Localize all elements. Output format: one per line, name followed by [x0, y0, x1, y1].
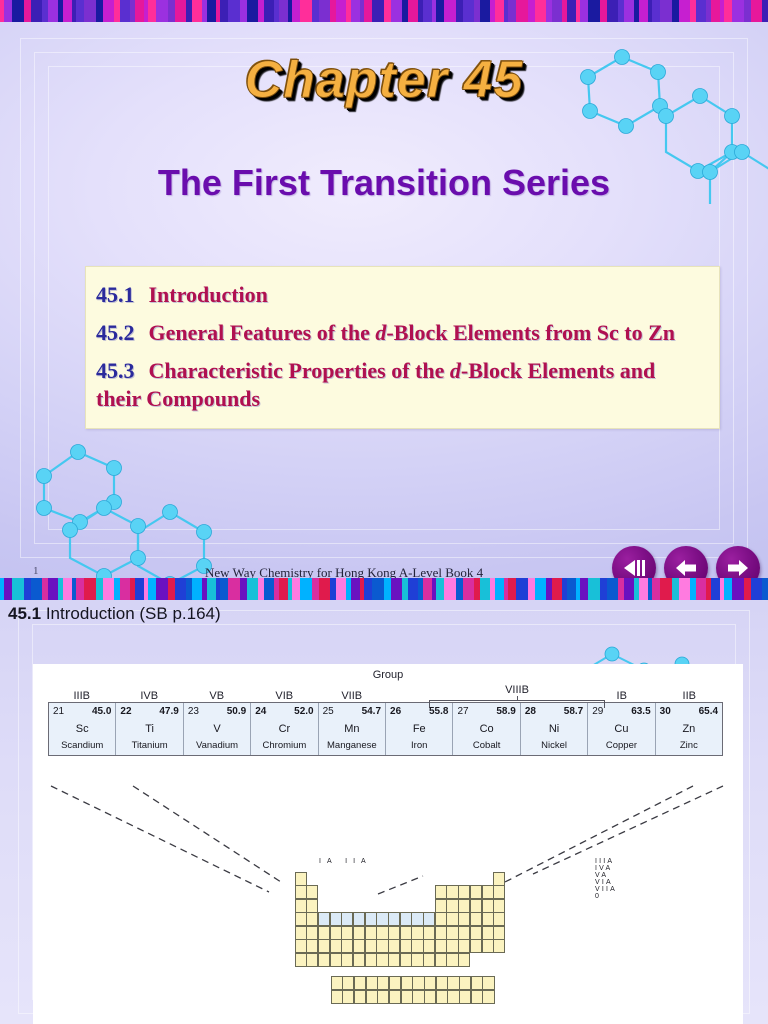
mini-cell[interactable] [353, 953, 365, 967]
mini-cell-empty [330, 899, 342, 913]
mini-cell[interactable] [306, 912, 318, 926]
page-title: Chapter 45 [0, 50, 768, 110]
mini-cell[interactable] [318, 939, 330, 953]
toc-item[interactable]: 45.2General Features of the d-Block Elem… [96, 319, 705, 347]
toc-item[interactable]: 45.1Introduction [96, 281, 705, 309]
mini-cell[interactable] [493, 912, 505, 926]
mini-cell-empty [411, 899, 423, 913]
mini-cell[interactable] [331, 990, 343, 1004]
mini-cell[interactable] [388, 953, 400, 967]
next-slide-button[interactable] [716, 546, 760, 578]
section-heading-text: Introduction (SB p.164) [46, 604, 221, 623]
toc-item-text: -Block Elements from Sc to Zn [386, 320, 675, 345]
toc-item-text: d [450, 358, 461, 383]
mini-cell-transition-series[interactable] [411, 912, 423, 926]
mini-cell[interactable] [493, 885, 505, 899]
mini-cell[interactable] [435, 899, 447, 913]
mini-cell[interactable] [470, 912, 482, 926]
mini-cell[interactable] [482, 939, 494, 953]
mini-left-group-labels: IA IIA [319, 858, 372, 865]
first-slide-button[interactable] [612, 546, 656, 578]
mini-cell-empty [482, 953, 494, 967]
mini-cell[interactable] [365, 953, 377, 967]
mini-cell-transition-series[interactable] [400, 912, 412, 926]
mini-cell-empty [330, 885, 342, 899]
mini-cell[interactable] [388, 939, 400, 953]
mini-cell-empty [365, 899, 377, 913]
mini-cell-transition-series[interactable] [388, 912, 400, 926]
mini-cell[interactable] [376, 939, 388, 953]
mini-cell[interactable] [493, 939, 505, 953]
mini-cell[interactable] [306, 885, 318, 899]
molecule-decoration-bottom-left [18, 440, 233, 578]
mini-table-row [295, 886, 505, 900]
mini-cell[interactable] [482, 912, 494, 926]
mini-cell[interactable] [388, 926, 400, 940]
mini-cell-empty [341, 872, 353, 886]
table-of-contents-box: 45.1Introduction45.2General Features of … [85, 266, 720, 429]
mini-cell[interactable] [470, 926, 482, 940]
mini-cell[interactable] [341, 926, 353, 940]
mini-cell-empty [318, 885, 330, 899]
mini-cell-empty [458, 872, 470, 886]
mini-cell-empty [423, 899, 435, 913]
mini-cell[interactable] [458, 885, 470, 899]
mini-cell-transition-series[interactable] [330, 912, 342, 926]
page-subtitle: The First Transition Series [0, 162, 768, 204]
mini-cell[interactable] [330, 926, 342, 940]
mini-cell[interactable] [306, 899, 318, 913]
mini-cell[interactable] [401, 976, 413, 990]
mini-cell[interactable] [342, 976, 354, 990]
mini-cell-empty [411, 885, 423, 899]
mini-table-fblock-row [331, 990, 505, 1004]
mini-table-row [295, 899, 505, 913]
mini-cell[interactable] [412, 990, 424, 1004]
mini-cell-empty [365, 885, 377, 899]
mini-cell[interactable] [306, 926, 318, 940]
mini-cell[interactable] [482, 976, 494, 990]
mini-table-fblock-row [331, 977, 505, 991]
mini-cell[interactable] [435, 926, 447, 940]
mini-cell[interactable] [365, 926, 377, 940]
mini-cell[interactable] [493, 926, 505, 940]
mini-cell-empty [411, 872, 423, 886]
mini-cell-empty [388, 872, 400, 886]
mini-cell-empty [376, 885, 388, 899]
mini-cell[interactable] [482, 899, 494, 913]
section-heading: 45.1 Introduction (SB p.164) [8, 604, 221, 624]
mini-cell[interactable] [400, 939, 412, 953]
toc-item-text: General Features of the [149, 320, 376, 345]
mini-cell-empty [435, 872, 447, 886]
mini-cell[interactable] [366, 976, 378, 990]
decorative-mosaic-border-middle [0, 578, 768, 600]
mini-cell-empty [400, 899, 412, 913]
mini-cell[interactable] [482, 926, 494, 940]
mini-cell[interactable] [365, 939, 377, 953]
mini-cell[interactable] [447, 990, 459, 1004]
mini-cell-empty [423, 872, 435, 886]
mini-cell-empty [353, 899, 365, 913]
mini-cell[interactable] [446, 939, 458, 953]
mini-cell[interactable] [424, 976, 436, 990]
periodic-table-figure-panel: Group VIIIB IIIBIVBVBVIBVIIBIBIIB 2145.0… [33, 664, 743, 1024]
mini-cell-empty [341, 899, 353, 913]
mini-cell[interactable] [435, 939, 447, 953]
mini-cell[interactable] [353, 939, 365, 953]
toc-item-number: 45.1 [96, 282, 135, 307]
mini-cell-empty [376, 872, 388, 886]
mini-cell[interactable] [471, 990, 483, 1004]
mini-cell-transition-series[interactable] [423, 912, 435, 926]
mini-cell[interactable] [458, 953, 470, 967]
mini-cell[interactable] [389, 976, 401, 990]
mini-cell-empty [365, 872, 377, 886]
mini-cell-empty [388, 885, 400, 899]
mini-cell[interactable] [458, 912, 470, 926]
decorative-mosaic-border-top [0, 0, 768, 22]
mini-cell[interactable] [341, 939, 353, 953]
mini-cell[interactable] [400, 953, 412, 967]
mini-cell[interactable] [295, 899, 307, 913]
previous-slide-button[interactable] [664, 546, 708, 578]
mini-cell[interactable] [447, 976, 459, 990]
mini-cell-empty [423, 885, 435, 899]
mini-cell[interactable] [354, 990, 366, 1004]
mini-cell[interactable] [436, 976, 448, 990]
mini-cell[interactable] [470, 899, 482, 913]
mini-cell[interactable] [295, 872, 307, 886]
toc-item-number: 45.3 [96, 358, 135, 383]
mini-cell[interactable] [366, 990, 378, 1004]
mini-cell[interactable] [435, 912, 447, 926]
mini-cell-empty [470, 953, 482, 967]
mini-cell[interactable] [493, 899, 505, 913]
mini-cell[interactable] [377, 990, 389, 1004]
mini-cell-empty [376, 899, 388, 913]
mini-cell[interactable] [295, 926, 307, 940]
mini-cell[interactable] [330, 939, 342, 953]
mini-cell[interactable] [306, 939, 318, 953]
mini-cell[interactable] [330, 953, 342, 967]
mini-cell[interactable] [446, 885, 458, 899]
arrow-left-icon [673, 558, 699, 578]
mini-cell[interactable] [424, 990, 436, 1004]
mini-table-row [295, 913, 505, 927]
mini-cell-empty [400, 885, 412, 899]
slide-deck-page: Chapter 45 The First Transition Series 4… [0, 0, 768, 1024]
mini-cell[interactable] [436, 990, 448, 1004]
mini-cell[interactable] [353, 926, 365, 940]
mini-cell[interactable] [446, 912, 458, 926]
mini-cell-empty [493, 953, 505, 967]
mini-cell-empty [446, 872, 458, 886]
mini-cell[interactable] [295, 885, 307, 899]
mini-table-row [295, 940, 505, 954]
toc-item-text: d [375, 320, 386, 345]
mini-right-group-labels: IIIA IVA VA VIA VIIA 0 [595, 858, 617, 900]
slide-page-number: 1 [33, 565, 39, 577]
mini-cell[interactable] [412, 976, 424, 990]
beginning-icon [621, 558, 647, 578]
mini-cell[interactable] [411, 939, 423, 953]
mini-cell-empty [318, 872, 330, 886]
mini-cell[interactable] [482, 990, 494, 1004]
mini-cell[interactable] [341, 953, 353, 967]
mini-cell[interactable] [471, 976, 483, 990]
mini-cell-empty [341, 885, 353, 899]
mini-cell[interactable] [295, 912, 307, 926]
mini-table-row [295, 872, 505, 886]
mini-cell-empty [388, 899, 400, 913]
mini-cell[interactable] [376, 953, 388, 967]
mini-cell[interactable] [423, 939, 435, 953]
mini-cell[interactable] [411, 953, 423, 967]
mini-cell[interactable] [306, 953, 318, 967]
mini-cell-empty [318, 899, 330, 913]
mini-cell-transition-series[interactable] [376, 912, 388, 926]
mini-cell-empty [306, 872, 318, 886]
mini-cell-empty [330, 872, 342, 886]
mini-cell[interactable] [342, 990, 354, 1004]
mini-table-row [295, 953, 505, 967]
mini-cell[interactable] [482, 885, 494, 899]
mini-cell-empty [400, 872, 412, 886]
toc-item-text: Characteristic Properties of the [149, 358, 450, 383]
mini-cell-transition-series[interactable] [318, 912, 330, 926]
toc-item[interactable]: 45.3Characteristic Properties of the d-B… [96, 357, 705, 413]
mini-cell-empty [353, 885, 365, 899]
mini-cell[interactable] [459, 990, 471, 1004]
mini-cell[interactable] [493, 872, 505, 886]
toc-item-text: Introduction [149, 282, 268, 307]
mini-cell[interactable] [459, 976, 471, 990]
mini-cell[interactable] [435, 953, 447, 967]
mini-cell[interactable] [458, 926, 470, 940]
mini-cell[interactable] [458, 899, 470, 913]
mini-cell[interactable] [411, 926, 423, 940]
mini-cell[interactable] [295, 953, 307, 967]
toc-item-number: 45.2 [96, 320, 135, 345]
mini-cell[interactable] [331, 976, 343, 990]
slide-content-slide: 45.1 Introduction (SB p.164) Group [0, 600, 768, 1024]
mini-cell[interactable] [435, 885, 447, 899]
mini-cell[interactable] [377, 976, 389, 990]
mini-cell[interactable] [376, 926, 388, 940]
slide-title-slide: Chapter 45 The First Transition Series 4… [0, 22, 768, 578]
mini-cell[interactable] [446, 926, 458, 940]
mini-cell-transition-series[interactable] [353, 912, 365, 926]
mini-cell[interactable] [389, 990, 401, 1004]
mini-cell[interactable] [423, 926, 435, 940]
mini-table-row [295, 926, 505, 940]
mini-cell-transition-series[interactable] [365, 912, 377, 926]
mini-cell[interactable] [446, 953, 458, 967]
slide-navigation-bar[interactable] [612, 546, 760, 578]
mini-cell[interactable] [458, 939, 470, 953]
mini-cell[interactable] [295, 939, 307, 953]
mini-cell[interactable] [354, 976, 366, 990]
section-heading-number: 45.1 [8, 604, 41, 623]
mini-cell[interactable] [401, 990, 413, 1004]
mini-cell[interactable] [318, 926, 330, 940]
mini-cell[interactable] [423, 953, 435, 967]
mini-cell[interactable] [318, 953, 330, 967]
mini-cell[interactable] [470, 885, 482, 899]
mini-cell-empty [353, 872, 365, 886]
mini-cell-empty [470, 872, 482, 886]
arrow-right-icon [725, 558, 751, 578]
mini-periodic-table: IA IIA IIIA IVA VA VIA VIIA 0 [295, 872, 505, 1004]
mini-cell-transition-series[interactable] [341, 912, 353, 926]
mini-cell-empty [482, 872, 494, 886]
book-title-footer: New Way Chemistry for Hong Kong A-Level … [205, 565, 483, 578]
mini-cell[interactable] [470, 939, 482, 953]
mini-cell[interactable] [400, 926, 412, 940]
mini-cell[interactable] [446, 899, 458, 913]
